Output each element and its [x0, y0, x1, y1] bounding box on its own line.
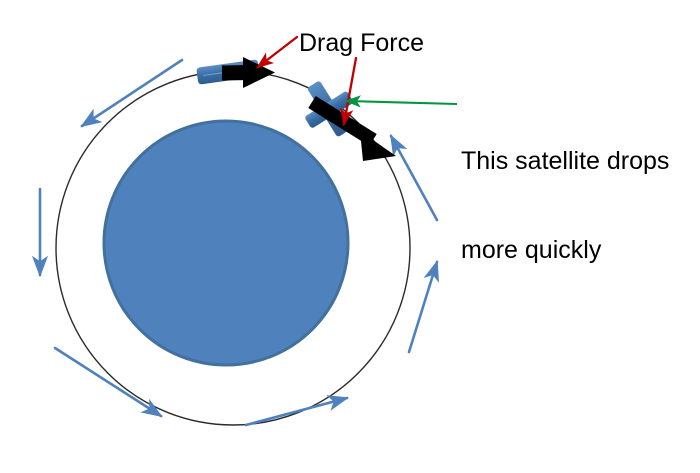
- satellite-note-line-2: more quickly: [461, 236, 669, 266]
- diagram-canvas: Drag Force This satellite drops more qui…: [0, 0, 700, 473]
- motion-arrow-right-upper: [391, 136, 437, 220]
- motion-arrow-top-left: [82, 60, 182, 126]
- force-arrow-satellite-1: [222, 57, 275, 88]
- satellite-note-line-1: This satellite drops: [461, 147, 669, 177]
- satellite-note-label: This satellite drops more quickly: [461, 88, 669, 324]
- motion-arrow-right-lower: [409, 262, 437, 352]
- motion-arrow-bottom-left: [55, 348, 161, 416]
- motion-arrow-bottom-right: [246, 398, 347, 425]
- planet-body: [104, 121, 348, 365]
- note-arrow: [347, 101, 457, 104]
- drag-force-label: Drag Force: [299, 29, 424, 59]
- force-arrow-satellite-2: [312, 102, 396, 161]
- drag-arrow-right: [344, 58, 356, 124]
- drag-arrow-left: [258, 37, 297, 67]
